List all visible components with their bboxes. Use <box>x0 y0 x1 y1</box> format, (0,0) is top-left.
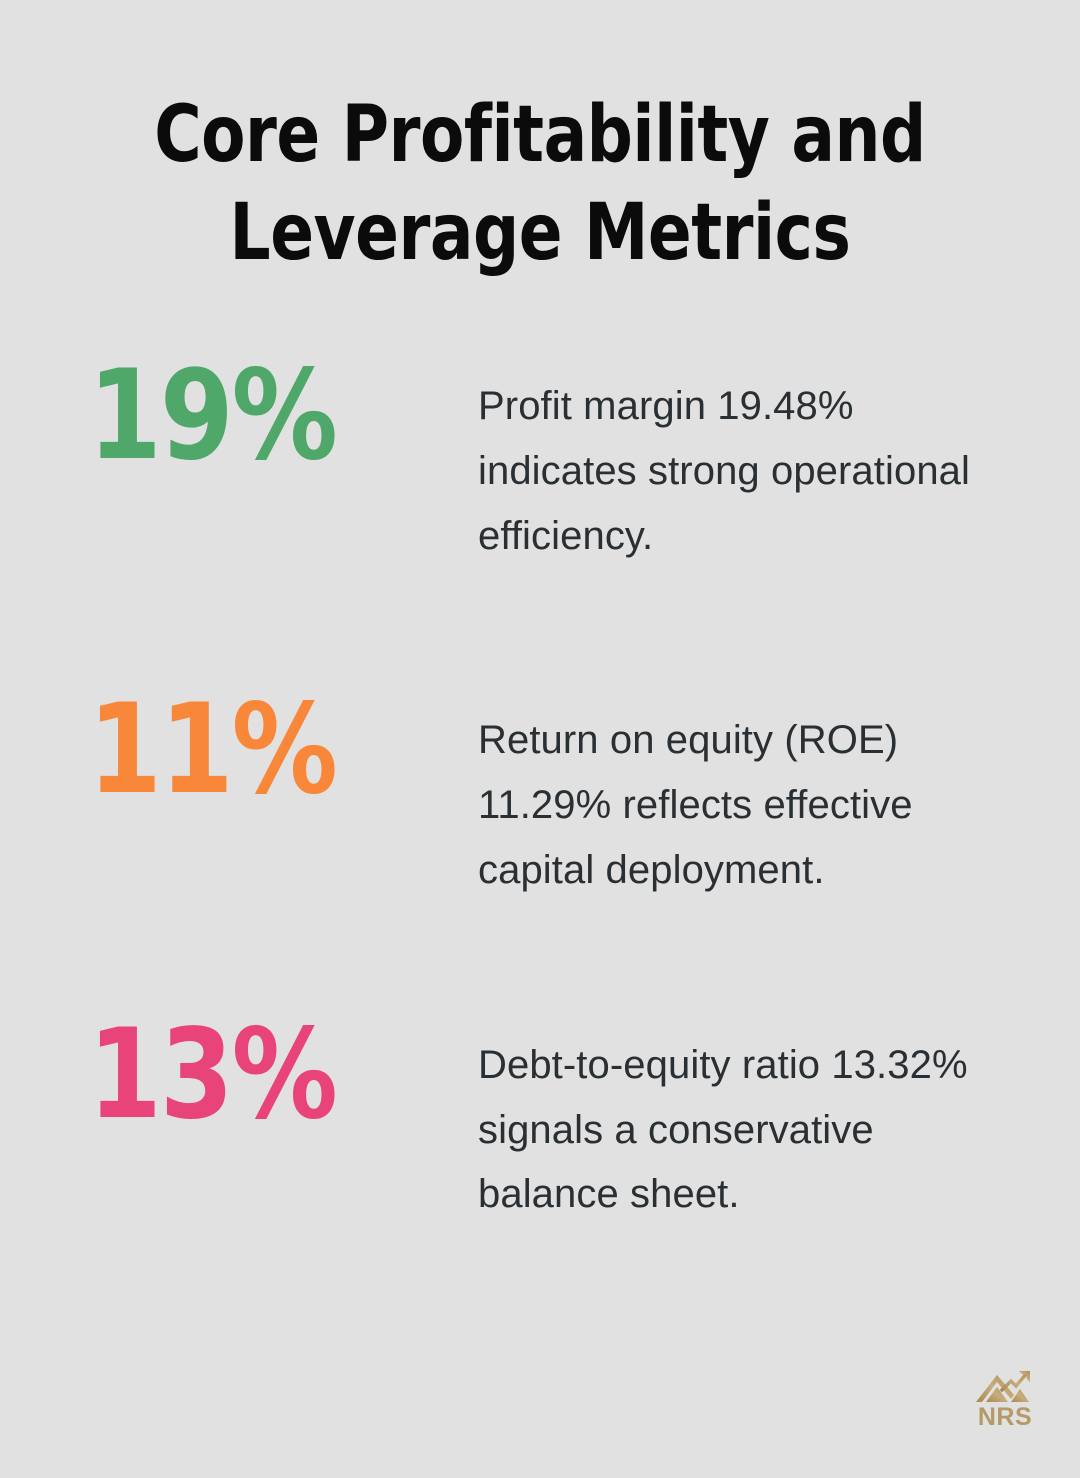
brand-logo: NRS <box>972 1368 1038 1430</box>
mountain-arrow-icon <box>975 1368 1035 1404</box>
stat-value: 13% <box>88 1011 459 1140</box>
stat-value: 19% <box>88 352 459 481</box>
stat-item: 19% Profit margin 19.48% indicates stron… <box>0 352 1080 568</box>
stat-value: 11% <box>88 686 459 815</box>
infographic-page: Core Profitability and Leverage Metrics … <box>0 0 1080 1478</box>
page-title: Core Profitability and Leverage Metrics <box>126 86 954 283</box>
stat-description: Return on equity (ROE) 11.29% reflects e… <box>478 686 1080 902</box>
stat-item: 11% Return on equity (ROE) 11.29% reflec… <box>0 686 1080 902</box>
brand-logo-text: NRS <box>978 1405 1032 1430</box>
page-title-block: Core Profitability and Leverage Metrics <box>90 86 990 283</box>
stat-description: Profit margin 19.48% indicates strong op… <box>478 352 1080 568</box>
stat-list: 19% Profit margin 19.48% indicates stron… <box>0 352 1080 1227</box>
stat-item: 13% Debt-to-equity ratio 13.32% signals … <box>0 1011 1080 1227</box>
stat-description: Debt-to-equity ratio 13.32% signals a co… <box>478 1011 1080 1227</box>
